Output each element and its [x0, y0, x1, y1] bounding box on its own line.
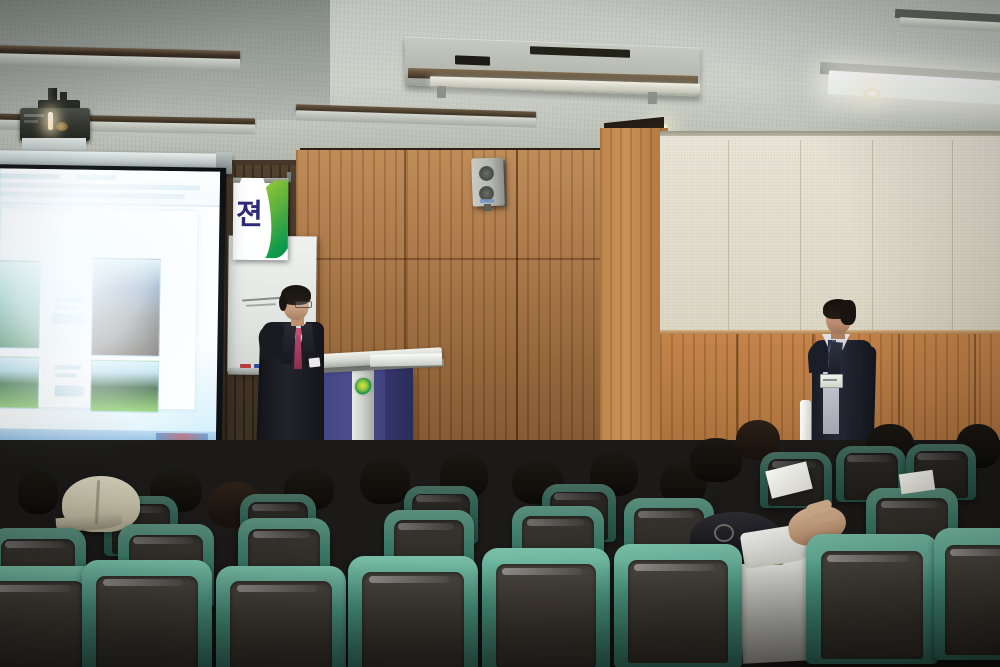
projection-screen [0, 168, 220, 443]
toolbar-row [0, 191, 185, 199]
auditorium-seat[interactable] [934, 528, 1000, 660]
panel-seam [872, 140, 873, 336]
wood-pillar-grain [600, 128, 668, 458]
speaker-driver-icon [479, 166, 494, 181]
auditorium-seat[interactable] [614, 544, 742, 667]
slide-image-before-top [0, 260, 41, 349]
seat-highlight [634, 564, 713, 571]
speaker-label [480, 199, 494, 203]
audience-head [690, 438, 742, 482]
presenter-hair [279, 294, 287, 311]
projector-vent [24, 114, 44, 117]
projector-base [22, 138, 86, 150]
red-marker-icon [240, 364, 251, 368]
presenter-pocket-square [309, 357, 321, 367]
seat-pad [945, 545, 1000, 655]
seat-pad [821, 551, 924, 659]
projector-lens-icon [48, 112, 53, 130]
ac-vent-slot [455, 55, 490, 65]
wall-panel-seam [516, 150, 518, 460]
toolbar-row [0, 173, 60, 179]
presenter-glasses-icon [295, 301, 312, 308]
lectern-emblem-logo [355, 378, 372, 395]
auditorium-seat[interactable] [806, 534, 938, 664]
seat-pad [230, 581, 331, 667]
wall-panel-seam [296, 258, 606, 260]
green-corporate-banner: 젼 [233, 178, 289, 260]
auditorium-seat[interactable] [348, 556, 478, 667]
seat-highlight [881, 501, 938, 508]
seat-highlight [502, 568, 581, 575]
seat-highlight [0, 585, 70, 592]
slide-caption-line [55, 365, 81, 369]
name-badge [820, 374, 843, 388]
light-mount [437, 86, 446, 98]
seat-highlight [638, 511, 694, 518]
panel-seam [728, 140, 729, 336]
seat-pad [628, 560, 728, 663]
auditorium-seat[interactable] [82, 560, 212, 667]
audience-head [360, 458, 410, 504]
seat-highlight [253, 531, 310, 538]
seat-highlight [252, 504, 299, 511]
seat-highlight [917, 453, 960, 460]
slide-image-before-bottom [0, 356, 39, 409]
lecture-hall-photo: 젼 [0, 0, 1000, 667]
seat-highlight [133, 537, 193, 544]
lectern-desktop-right [370, 353, 442, 367]
slide-arrow-icon [52, 313, 86, 325]
panel-seam [952, 140, 953, 336]
banner-korean-character: 젼 [236, 194, 270, 234]
light-mount [648, 92, 657, 104]
toolbar-row [0, 182, 200, 190]
seat-highlight [369, 576, 450, 583]
seat-pad [96, 576, 197, 667]
name-badge-text-line [823, 379, 837, 381]
seat-highlight [847, 455, 890, 462]
seat-highlight [5, 541, 65, 548]
seat-pad [496, 564, 596, 667]
slide-image-after-bottom [90, 360, 159, 413]
cap-logo-icon [714, 524, 734, 542]
seat-pad [0, 581, 84, 667]
projector-vent [24, 120, 38, 123]
seat-highlight [554, 493, 600, 500]
slide-app-toolbar [0, 168, 220, 207]
seat-highlight [398, 523, 454, 530]
seat-highlight [527, 519, 584, 526]
seat-highlight [103, 579, 184, 586]
slide-canvas [0, 208, 197, 409]
speaker-bracket [484, 204, 491, 211]
seat-pad [362, 572, 463, 667]
slide-caption-line [55, 373, 77, 377]
seat-highlight [950, 549, 1000, 556]
ceiling-projector [20, 108, 90, 141]
seat-highlight [237, 585, 318, 592]
auditorium-seat[interactable] [216, 566, 346, 667]
seat-highlight [416, 495, 462, 502]
audience-head [18, 470, 58, 514]
toolbar-row [76, 175, 116, 181]
downlight-icon [862, 88, 882, 99]
panel-seam [800, 140, 801, 336]
projector-lamp-glow [56, 122, 68, 131]
slide-image-after-top [91, 258, 161, 357]
seat-highlight [827, 555, 909, 562]
slide-caption-line [54, 297, 82, 301]
auditorium-seat[interactable] [482, 548, 610, 667]
slide-caption-line [54, 305, 78, 309]
slide-arrow-icon [55, 385, 85, 396]
standing-man-hair [840, 300, 856, 325]
